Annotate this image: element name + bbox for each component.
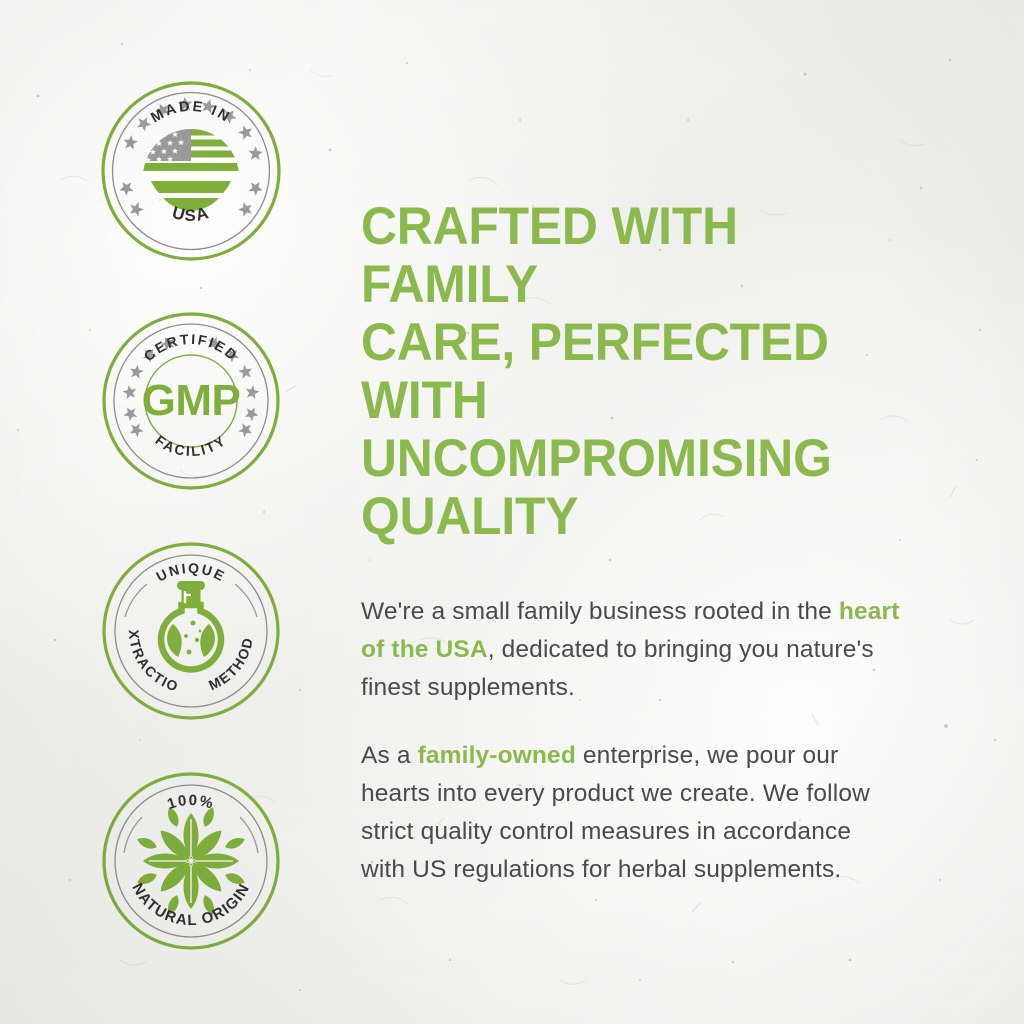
headline-line-3: UNCOMPROMISING [361,429,832,488]
natural-origin-seal: 100% NATURAL ORIGIN [101,771,281,951]
badge-top-text: 100% [165,792,216,813]
svg-text:FACILITY: FACILITY [153,432,230,459]
badge-bottom-text: USA [170,203,212,225]
svg-text:100%: 100% [165,792,216,813]
badge-natural-origin[interactable]: 100% NATURAL ORIGIN [101,771,281,951]
text-run-0: As a [361,742,418,769]
badge-top-text: MADE IN [148,99,233,127]
page-title: CRAFTED WITH FAMILY CARE, PERFECTED WITH… [361,198,887,546]
promo-panel: MADE IN USA [0,0,1024,1024]
text-run-0: We're a small family business rooted in … [361,598,839,625]
svg-text:CERTIFIED: CERTIFIED [140,331,241,364]
badge-top-text: UNIQUE [154,560,229,585]
extraction-method-seal: UNIQUE EXTRACTION METHOD [101,541,281,721]
svg-text:MADE IN: MADE IN [148,99,233,127]
usa-flag-dome-icon [143,129,241,211]
badge-bottom-text: FACILITY [153,432,230,459]
headline-line-2: CARE, PERFECTED WITH [361,313,829,430]
svg-text:UNIQUE: UNIQUE [154,560,229,585]
badge-gmp-certified-facility[interactable]: GMP CERTIFIED FACILITY [101,311,281,491]
badge-made-in-usa[interactable]: MADE IN USA [101,81,281,261]
badge-unique-extraction-method[interactable]: UNIQUE EXTRACTION METHOD [101,541,281,721]
certification-badge-list: MADE IN USA [101,81,281,951]
made-in-usa-seal: MADE IN USA [101,81,281,261]
flask-leaf-icon [161,581,221,669]
gmp-seal: GMP CERTIFIED FACILITY [101,311,281,491]
headline-line-4: QUALITY [361,487,578,546]
svg-text:USA: USA [170,203,212,225]
paragraph-1: We're a small family business rooted in … [361,593,901,707]
gmp-text-icon: GMP [142,376,241,425]
body-copy: We're a small family business rooted in … [361,593,901,889]
copy-column: CRAFTED WITH FAMILY CARE, PERFECTED WITH… [361,198,921,889]
badge-top-text: CERTIFIED [140,331,241,364]
paragraph-2: As a family-owned enterprise, we pour ou… [361,737,901,889]
highlighted-phrase: family-owned [418,742,576,769]
headline-line-1: CRAFTED WITH FAMILY [361,197,738,314]
